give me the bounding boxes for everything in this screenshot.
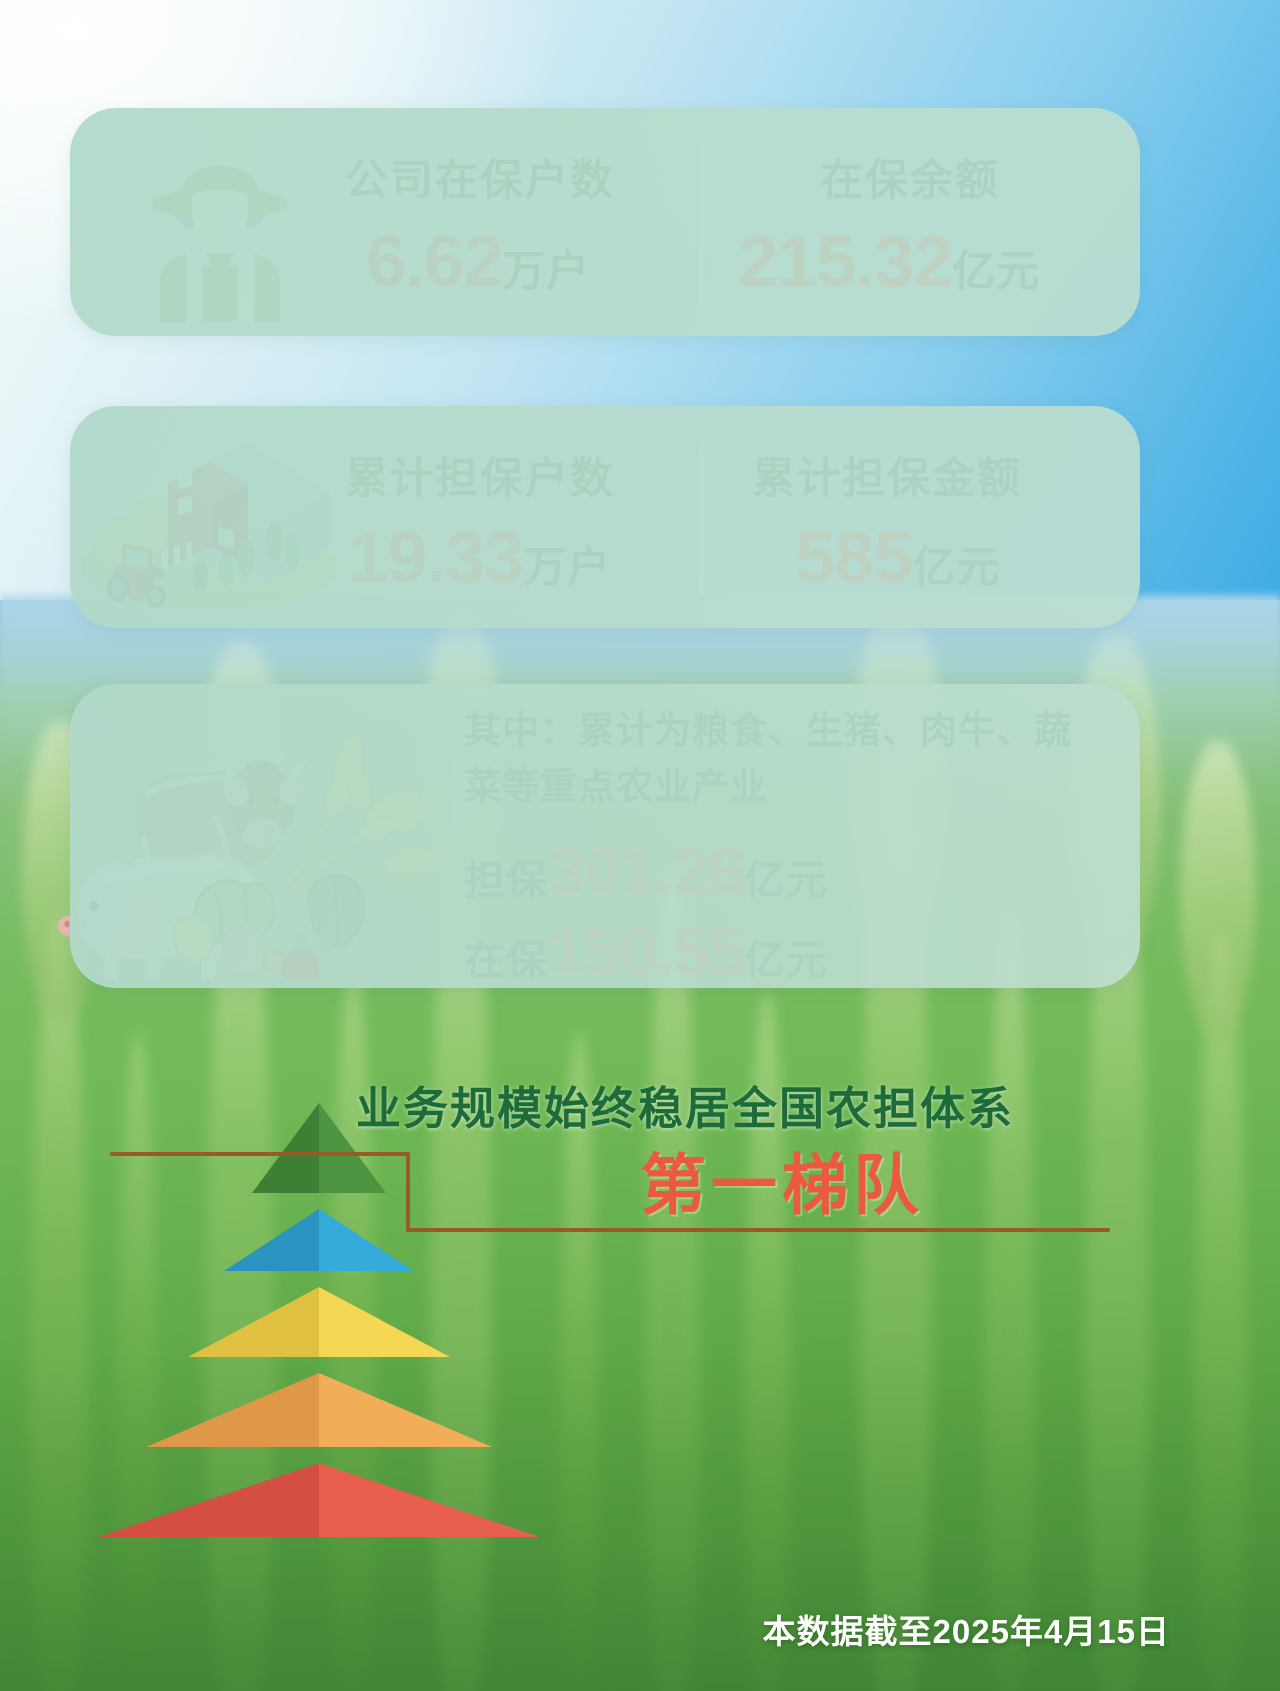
stat-card-key-industries — [70, 684, 1140, 988]
headline-rule-right — [406, 1228, 1110, 1232]
pyramid-tier-3 — [188, 1287, 450, 1357]
headline-rule-vertical — [406, 1152, 410, 1230]
pyramid-tier-2 — [146, 1373, 492, 1447]
stat-card-cumulative — [70, 406, 1140, 628]
headline-rule-left — [110, 1152, 410, 1156]
pyramid-tier-4 — [224, 1209, 414, 1271]
data-cutoff-note: 本数据截至2025年4月15日 — [763, 1605, 1170, 1653]
wheat-ear — [1180, 740, 1256, 1040]
tier-label: 第一梯队 — [640, 1152, 924, 1218]
stat-card-insured — [70, 108, 1140, 336]
pyramid-tier-1 — [98, 1463, 540, 1537]
highlight-headline: 业务规模始终稳居全国农担体系 — [356, 1086, 1014, 1131]
